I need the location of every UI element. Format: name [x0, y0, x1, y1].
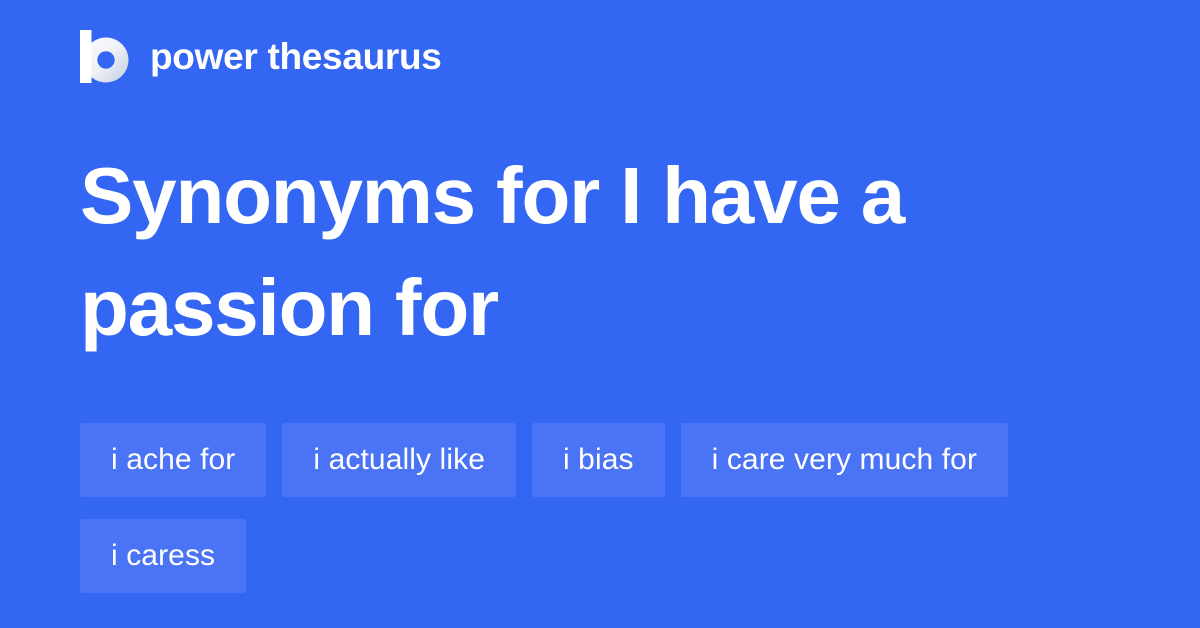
synonym-chip[interactable]: i bias — [532, 423, 665, 497]
page-title-line-2: passion for — [80, 252, 1120, 364]
power-thesaurus-b-logo-icon — [80, 30, 129, 83]
brand-logo[interactable]: Power Thesaurus — [80, 28, 442, 84]
synonym-chip[interactable]: i caress — [80, 519, 246, 593]
brand-name: Power Thesaurus — [150, 38, 442, 75]
page-title-line-1: Synonyms for I have a — [80, 140, 1120, 252]
synonym-chip-list: i ache for i actually like i bias i care… — [80, 423, 1120, 593]
share-card: Power Thesaurus Synonyms for I have a pa… — [0, 0, 1200, 628]
page-title: Synonyms for I have a passion for — [80, 140, 1120, 364]
synonym-chip[interactable]: i care very much for — [681, 423, 1008, 497]
synonym-chip[interactable]: i ache for — [80, 423, 266, 497]
synonym-chip[interactable]: i actually like — [282, 423, 516, 497]
